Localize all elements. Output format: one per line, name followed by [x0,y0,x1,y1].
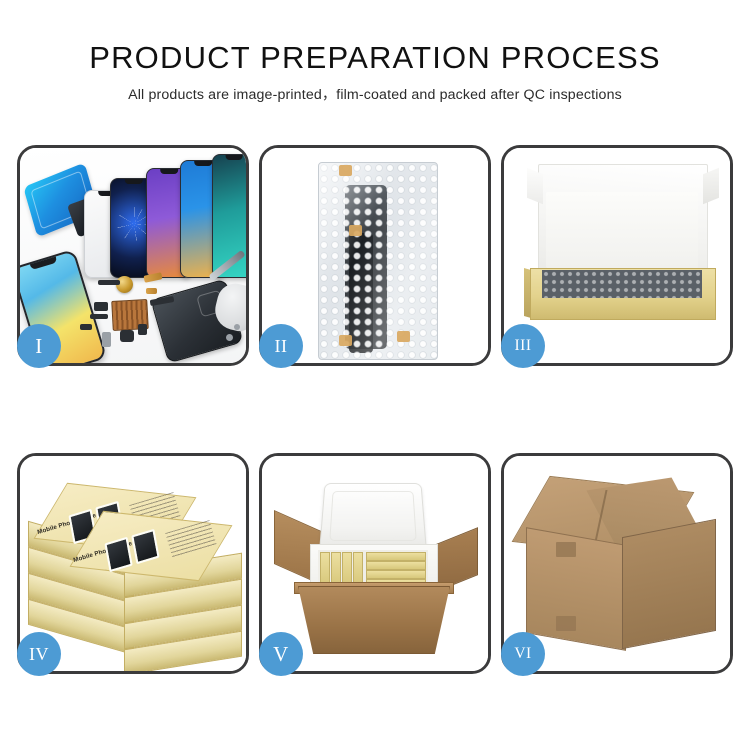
yellow-box-item [331,552,341,586]
yellow-box-item [366,561,426,570]
yellow-box-item [342,552,352,586]
camera-module-part [120,330,134,342]
carton-front-panel [298,586,450,654]
process-grid: I [17,145,733,674]
box-stack: Mobile Phone Spare Parts Mobile Phone Sp… [24,474,246,664]
foam-sheet [546,192,698,268]
flex-cable-part [146,288,157,294]
tape-piece [349,225,362,236]
step-numeral: III [515,337,532,355]
small-part [94,302,108,311]
tape-piece [339,165,352,176]
process-step-2[interactable]: II [259,145,491,366]
bubble-wrap-contents [542,270,702,298]
screw-part [234,324,240,330]
screw-part [226,334,233,341]
step-numeral: I [35,334,43,359]
carton-tape-upper [556,542,576,557]
yellow-box-item [353,552,363,586]
header: PRODUCT PREPARATION PROCESS All products… [0,0,750,104]
yellow-box-item [366,570,426,579]
process-step-4[interactable]: Mobile Phone Spare Parts Mobile Phone Sp… [17,453,249,674]
small-part [102,332,111,347]
phone-fan-group [84,156,246,278]
carton-tape-lower [556,616,576,631]
small-part [90,314,108,319]
step-numeral: II [275,336,288,357]
step-badge-5: V [259,632,303,676]
process-row-top: I [17,145,733,366]
foam-box-contents [318,550,428,586]
process-step-5[interactable]: V [259,453,491,674]
tape-piece [339,335,352,346]
product-preparation-infographic: PRODUCT PREPARATION PROCESS All products… [0,0,750,750]
step-numeral: IV [29,644,49,665]
page-subtitle: All products are image-printed，film-coat… [0,75,750,104]
plastic-sheen [319,163,437,359]
small-part [98,280,120,285]
tape-piece [397,331,410,342]
process-step-6[interactable]: VI [501,453,733,674]
carton-right-face [622,519,716,649]
yellow-box-item [320,552,330,586]
step-badge-6: VI [501,632,545,676]
process-step-1[interactable]: I [17,145,249,366]
step-numeral: V [273,642,289,667]
yellow-box-item [366,552,426,561]
step-numeral: VI [514,645,531,663]
process-row-bottom: Mobile Phone Spare Parts Mobile Phone Sp… [17,453,733,674]
step-badge-4: IV [17,632,61,676]
step-badge-2: II [259,324,303,368]
small-part [80,324,92,330]
bubble-wrap-bag [318,162,438,360]
small-part [138,324,147,335]
page-title: PRODUCT PREPARATION PROCESS [0,0,750,75]
step-badge-1: I [17,324,61,368]
foam-box-lid [319,483,427,550]
step-badge-3: III [501,324,545,368]
carton-left-face [526,527,626,651]
process-step-3[interactable]: III [501,145,733,366]
